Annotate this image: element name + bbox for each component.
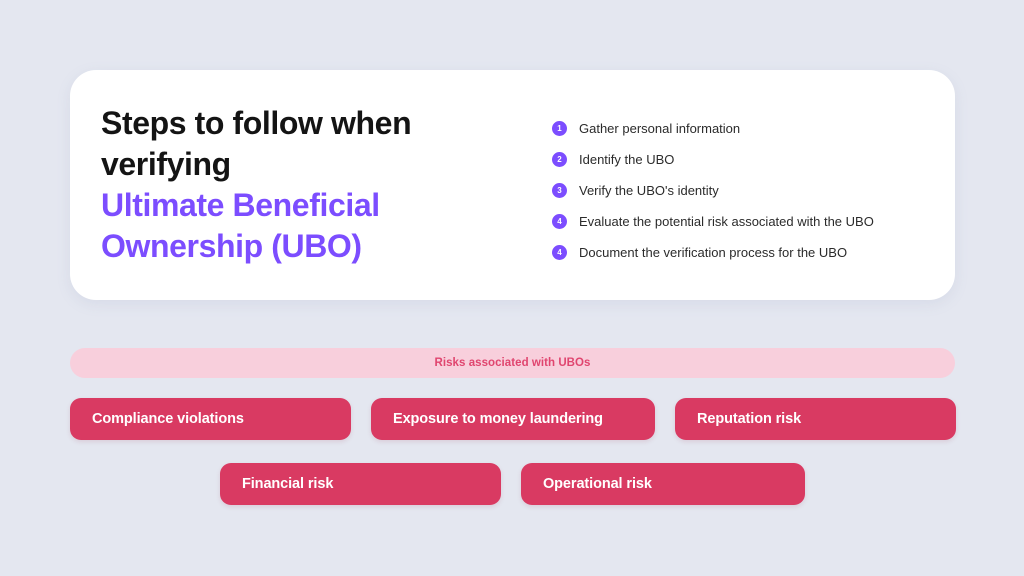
risk-pill-row-2: Financial risk Operational risk xyxy=(220,463,805,505)
infographic-canvas: Steps to follow when verifying Ultimate … xyxy=(0,0,1024,576)
risk-pill-label: Financial risk xyxy=(242,476,333,492)
list-item: 4 Document the verification process for … xyxy=(552,237,942,268)
risk-pill-label: Operational risk xyxy=(543,476,652,492)
risk-pill-operational-risk[interactable]: Operational risk xyxy=(521,463,805,505)
risk-pill-exposure-to-money-laundering[interactable]: Exposure to money laundering xyxy=(371,398,655,440)
list-item: 2 Identify the UBO xyxy=(552,144,942,175)
step-number-badge: 1 xyxy=(552,121,567,136)
step-label: Identify the UBO xyxy=(579,152,674,167)
step-label: Gather personal information xyxy=(579,121,740,136)
risk-pill-label: Compliance violations xyxy=(92,411,244,427)
risk-pill-compliance-violations[interactable]: Compliance violations xyxy=(70,398,351,440)
step-number-badge: 2 xyxy=(552,152,567,167)
risk-pill-reputation-risk[interactable]: Reputation risk xyxy=(675,398,956,440)
steps-list: 1 Gather personal information 2 Identify… xyxy=(552,113,942,268)
page-title: Steps to follow when verifying Ultimate … xyxy=(101,103,521,267)
steps-card-inner: Steps to follow when verifying Ultimate … xyxy=(70,70,955,300)
step-label: Document the verification process for th… xyxy=(579,245,847,260)
risk-pill-label: Exposure to money laundering xyxy=(393,411,603,427)
title-line-3: Ultimate Beneficial xyxy=(101,185,521,226)
step-number-badge: 4 xyxy=(552,214,567,229)
title-line-2: verifying xyxy=(101,144,521,185)
list-item: 4 Evaluate the potential risk associated… xyxy=(552,206,942,237)
step-label: Evaluate the potential risk associated w… xyxy=(579,214,874,229)
list-item: 1 Gather personal information xyxy=(552,113,942,144)
list-item: 3 Verify the UBO's identity xyxy=(552,175,942,206)
step-label: Verify the UBO's identity xyxy=(579,183,719,198)
risks-banner-label: Risks associated with UBOs xyxy=(435,357,591,369)
step-number-badge: 3 xyxy=(552,183,567,198)
title-line-4: Ownership (UBO) xyxy=(101,226,521,267)
title-line-1: Steps to follow when xyxy=(101,103,521,144)
risk-pill-financial-risk[interactable]: Financial risk xyxy=(220,463,501,505)
risk-pill-label: Reputation risk xyxy=(697,411,801,427)
risk-pill-row-1: Compliance violations Exposure to money … xyxy=(70,398,956,440)
risks-banner: Risks associated with UBOs xyxy=(70,348,955,378)
step-number-badge: 4 xyxy=(552,245,567,260)
steps-card: Steps to follow when verifying Ultimate … xyxy=(70,70,955,300)
